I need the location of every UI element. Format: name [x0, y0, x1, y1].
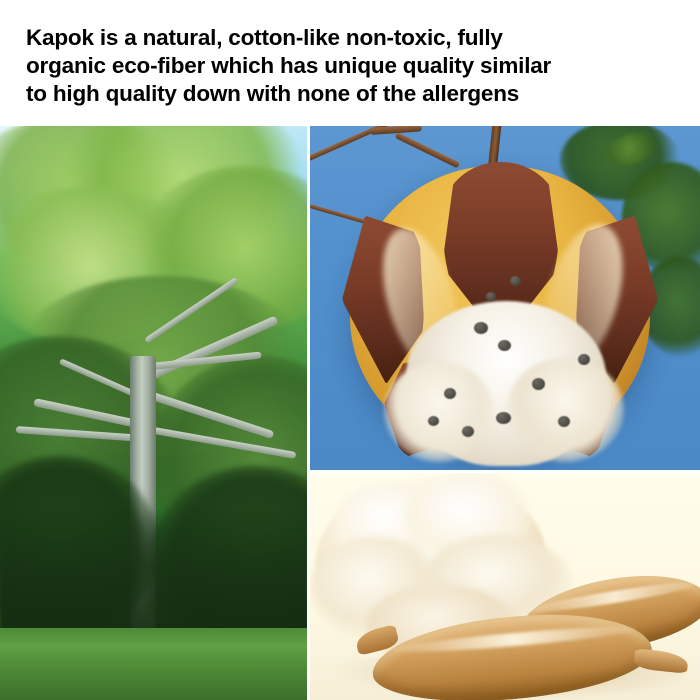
page-title: Kapok is a natural, cotton-like non-toxi…	[26, 24, 694, 108]
kapok-seed	[462, 426, 474, 437]
kapok-seed	[496, 412, 511, 424]
grass-lawn	[0, 628, 307, 700]
kapok-pod-photo	[310, 126, 700, 470]
kapok-seed	[558, 416, 570, 427]
image-collage	[0, 126, 700, 700]
kapok-floss	[506, 358, 624, 462]
kapok-seed	[474, 322, 488, 334]
kapok-fiber-photo	[310, 473, 700, 700]
kapok-seed	[510, 276, 521, 286]
tree-twig	[395, 132, 461, 168]
kapok-seed	[578, 354, 590, 365]
kapok-tree-photo	[0, 126, 307, 700]
background-hedge	[0, 510, 307, 640]
kapok-seed	[532, 378, 545, 390]
kapok-floss	[384, 362, 494, 462]
kapok-seed	[498, 340, 511, 351]
kapok-infographic: Kapok is a natural, cotton-like non-toxi…	[0, 0, 700, 700]
kapok-seed	[486, 292, 496, 301]
kapok-seed	[444, 388, 456, 399]
kapok-seed	[428, 416, 439, 426]
